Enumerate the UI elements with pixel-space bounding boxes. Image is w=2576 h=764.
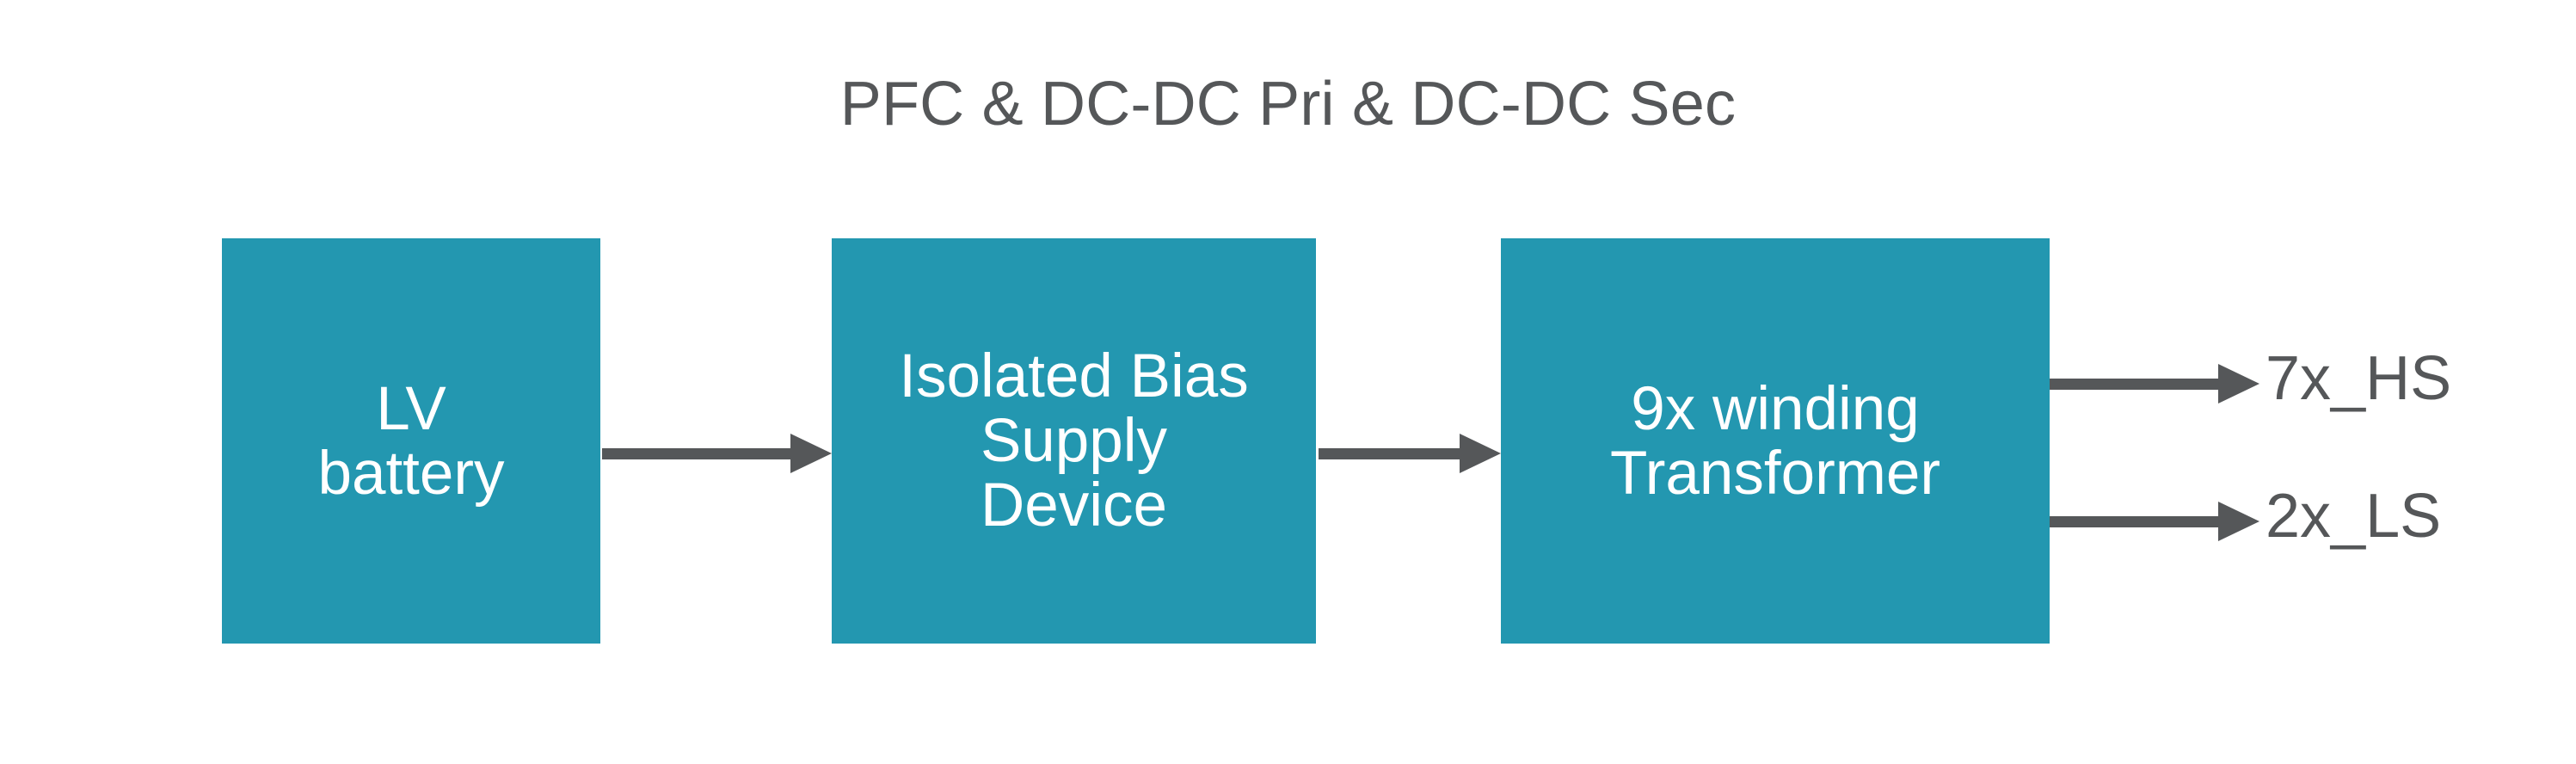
- node-lv-battery[interactable]: LV battery: [222, 238, 600, 644]
- diagram-title-text: PFC & DC-DC Pri & DC-DC Sec: [840, 65, 1736, 143]
- arrow-head-icon: [1460, 434, 1501, 473]
- arrow-head-icon: [2218, 364, 2259, 404]
- diagram-title: PFC & DC-DC Pri & DC-DC Sec: [0, 65, 2576, 143]
- arrow-line: [2050, 516, 2218, 527]
- arrow-line: [1319, 448, 1460, 459]
- node-isolated-bias-supply-device[interactable]: Isolated Bias Supply Device: [832, 238, 1316, 644]
- node-9x-winding-transformer[interactable]: 9x winding Transformer: [1501, 238, 2050, 644]
- output-label-ls: 2x_LS: [2266, 485, 2441, 547]
- output-label-hs: 7x_HS: [2266, 348, 2451, 410]
- diagram-canvas: PFC & DC-DC Pri & DC-DC Sec LV battery I…: [0, 0, 2576, 764]
- arrow-head-icon: [790, 434, 832, 473]
- node-isolated-bias-supply-device-label: Isolated Bias Supply Device: [837, 344, 1311, 538]
- arrow-line: [602, 448, 790, 459]
- node-lv-battery-label: LV battery: [227, 377, 595, 506]
- node-9x-winding-transformer-label: 9x winding Transformer: [1506, 377, 2044, 506]
- arrow-head-icon: [2218, 502, 2259, 541]
- arrow-line: [2050, 379, 2218, 390]
